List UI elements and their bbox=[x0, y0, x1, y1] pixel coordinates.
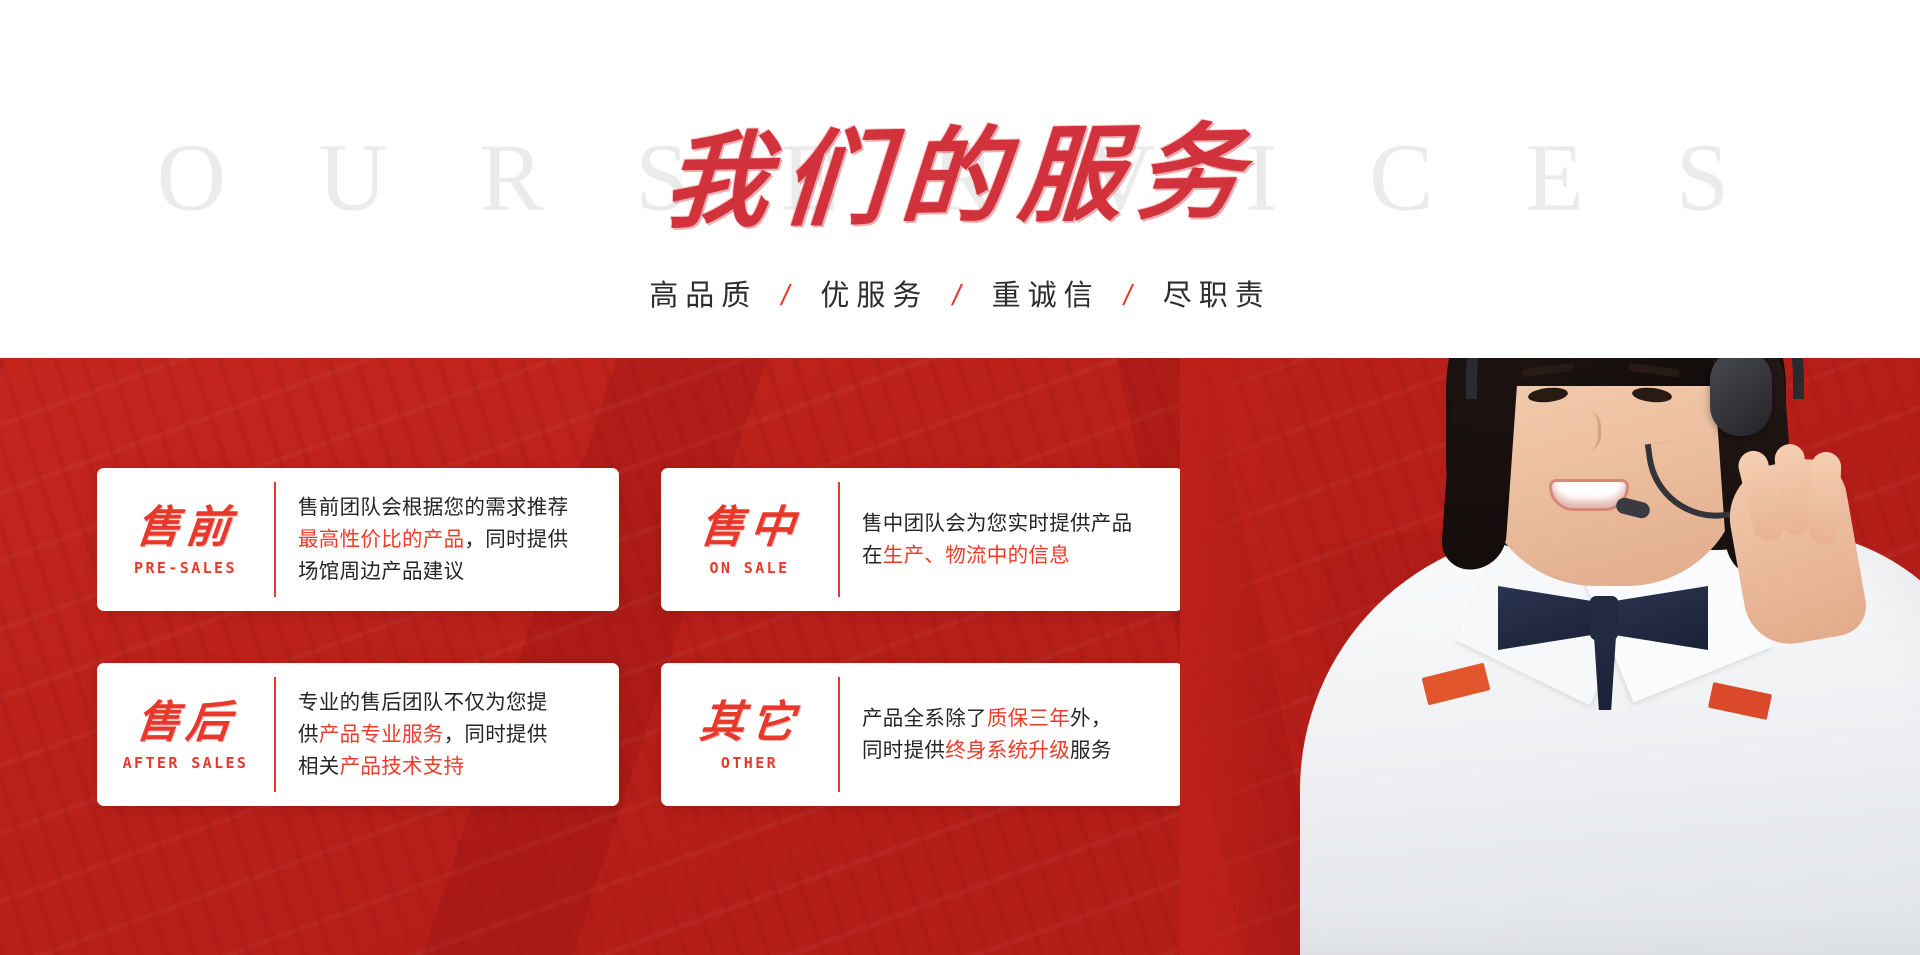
subtitle-separator-3: / bbox=[1124, 280, 1139, 312]
service-card-other[interactable]: 其它 OTHER 产品全系除了质保三年外， 同时提供终身系统升级服务 bbox=[661, 663, 1183, 806]
card-line: 同时提供终身系统升级服务 bbox=[862, 735, 1171, 767]
card-text-block: 售前团队会根据您的需求推荐 最高性价比的产品，同时提供 场馆周边产品建议 bbox=[276, 468, 619, 611]
card-en-label: PRE-SALES bbox=[134, 559, 237, 577]
text-span: 相关 bbox=[298, 755, 340, 778]
card-cn-label: 其它 bbox=[697, 701, 802, 746]
card-line: 售中团队会为您实时提供产品 bbox=[862, 508, 1171, 540]
card-label-block: 售后 AFTER SALES bbox=[97, 663, 274, 806]
text-span: 产品全系除了 bbox=[862, 707, 987, 730]
card-label-block: 售前 PRE-SALES bbox=[97, 468, 274, 611]
card-cn-label: 售中 bbox=[697, 506, 802, 551]
card-label-block: 售中 ON SALE bbox=[661, 468, 838, 611]
card-line: 供产品专业服务，同时提供 bbox=[298, 719, 607, 751]
page-title: 我们的服务 bbox=[661, 120, 1259, 234]
text-span: 外， bbox=[1070, 707, 1112, 730]
text-span: 售前团队会根据您的需求推荐 bbox=[298, 496, 568, 519]
red-panel: 售前 PRE-SALES 售前团队会根据您的需求推荐 最高性价比的产品，同时提供… bbox=[0, 358, 1920, 955]
card-line: 相关产品技术支持 bbox=[298, 751, 607, 783]
text-span: 供 bbox=[298, 723, 319, 746]
text-span: 场馆周边产品建议 bbox=[298, 560, 464, 583]
text-span: ，同时提供 bbox=[464, 528, 568, 551]
text-span: 售中团队会为您实时提供产品 bbox=[862, 512, 1132, 535]
banner-header: O U R S E R V I C E S 我们的服务 高品质 / 优服务 / … bbox=[0, 0, 1920, 358]
card-en-label: OTHER bbox=[721, 754, 778, 772]
card-en-label: AFTER SALES bbox=[123, 754, 249, 772]
title-block: O U R S E R V I C E S 我们的服务 bbox=[0, 112, 1920, 242]
subtitle-item-3: 重诚信 bbox=[992, 280, 1100, 312]
subtitle-item-1: 高品质 bbox=[649, 280, 757, 312]
card-text-block: 售中团队会为您实时提供产品 在生产、物流中的信息 bbox=[840, 468, 1183, 611]
card-line: 在生产、物流中的信息 bbox=[862, 540, 1171, 572]
card-cn-label: 售前 bbox=[133, 506, 238, 551]
services-banner: O U R S E R V I C E S 我们的服务 高品质 / 优服务 / … bbox=[0, 0, 1920, 955]
text-span-highlight: 最高性价比的产品 bbox=[298, 528, 464, 551]
text-span: ，同时提供 bbox=[444, 723, 548, 746]
card-line: 产品全系除了质保三年外， bbox=[862, 703, 1171, 735]
card-en-label: ON SALE bbox=[709, 559, 789, 577]
text-span: 在 bbox=[862, 544, 883, 567]
subtitle: 高品质 / 优服务 / 重诚信 / 尽职责 bbox=[0, 272, 1920, 314]
text-span: 服务 bbox=[1070, 739, 1112, 762]
card-line: 售前团队会根据您的需求推荐 bbox=[298, 492, 607, 524]
subtitle-item-2: 优服务 bbox=[820, 280, 928, 312]
subtitle-separator-1: / bbox=[781, 280, 796, 312]
service-card-on-sale[interactable]: 售中 ON SALE 售中团队会为您实时提供产品 在生产、物流中的信息 bbox=[661, 468, 1183, 611]
text-span: 专业的售后团队不仅为您提 bbox=[298, 691, 548, 714]
card-line: 专业的售后团队不仅为您提 bbox=[298, 687, 607, 719]
card-text-block: 产品全系除了质保三年外， 同时提供终身系统升级服务 bbox=[840, 663, 1183, 806]
subtitle-item-4: 尽职责 bbox=[1163, 280, 1271, 312]
service-card-pre-sales[interactable]: 售前 PRE-SALES 售前团队会根据您的需求推荐 最高性价比的产品，同时提供… bbox=[97, 468, 619, 611]
service-card-after-sales[interactable]: 售后 AFTER SALES 专业的售后团队不仅为您提 供产品专业服务，同时提供… bbox=[97, 663, 619, 806]
card-cn-label: 售后 bbox=[133, 701, 238, 746]
subtitle-separator-2: / bbox=[952, 280, 967, 312]
text-span-highlight: 产品专业服务 bbox=[319, 723, 444, 746]
text-span-highlight: 终身系统升级 bbox=[945, 739, 1070, 762]
text-span-highlight: 生产、物流中的信息 bbox=[883, 544, 1070, 567]
card-line: 场馆周边产品建议 bbox=[298, 556, 607, 588]
card-label-block: 其它 OTHER bbox=[661, 663, 838, 806]
text-span: 同时提供 bbox=[862, 739, 945, 762]
text-span-highlight: 产品技术支持 bbox=[340, 755, 465, 778]
card-text-block: 专业的售后团队不仅为您提 供产品专业服务，同时提供 相关产品技术支持 bbox=[276, 663, 619, 806]
card-line: 最高性价比的产品，同时提供 bbox=[298, 524, 607, 556]
service-cards: 售前 PRE-SALES 售前团队会根据您的需求推荐 最高性价比的产品，同时提供… bbox=[0, 358, 1920, 955]
text-span-highlight: 质保三年 bbox=[987, 707, 1070, 730]
